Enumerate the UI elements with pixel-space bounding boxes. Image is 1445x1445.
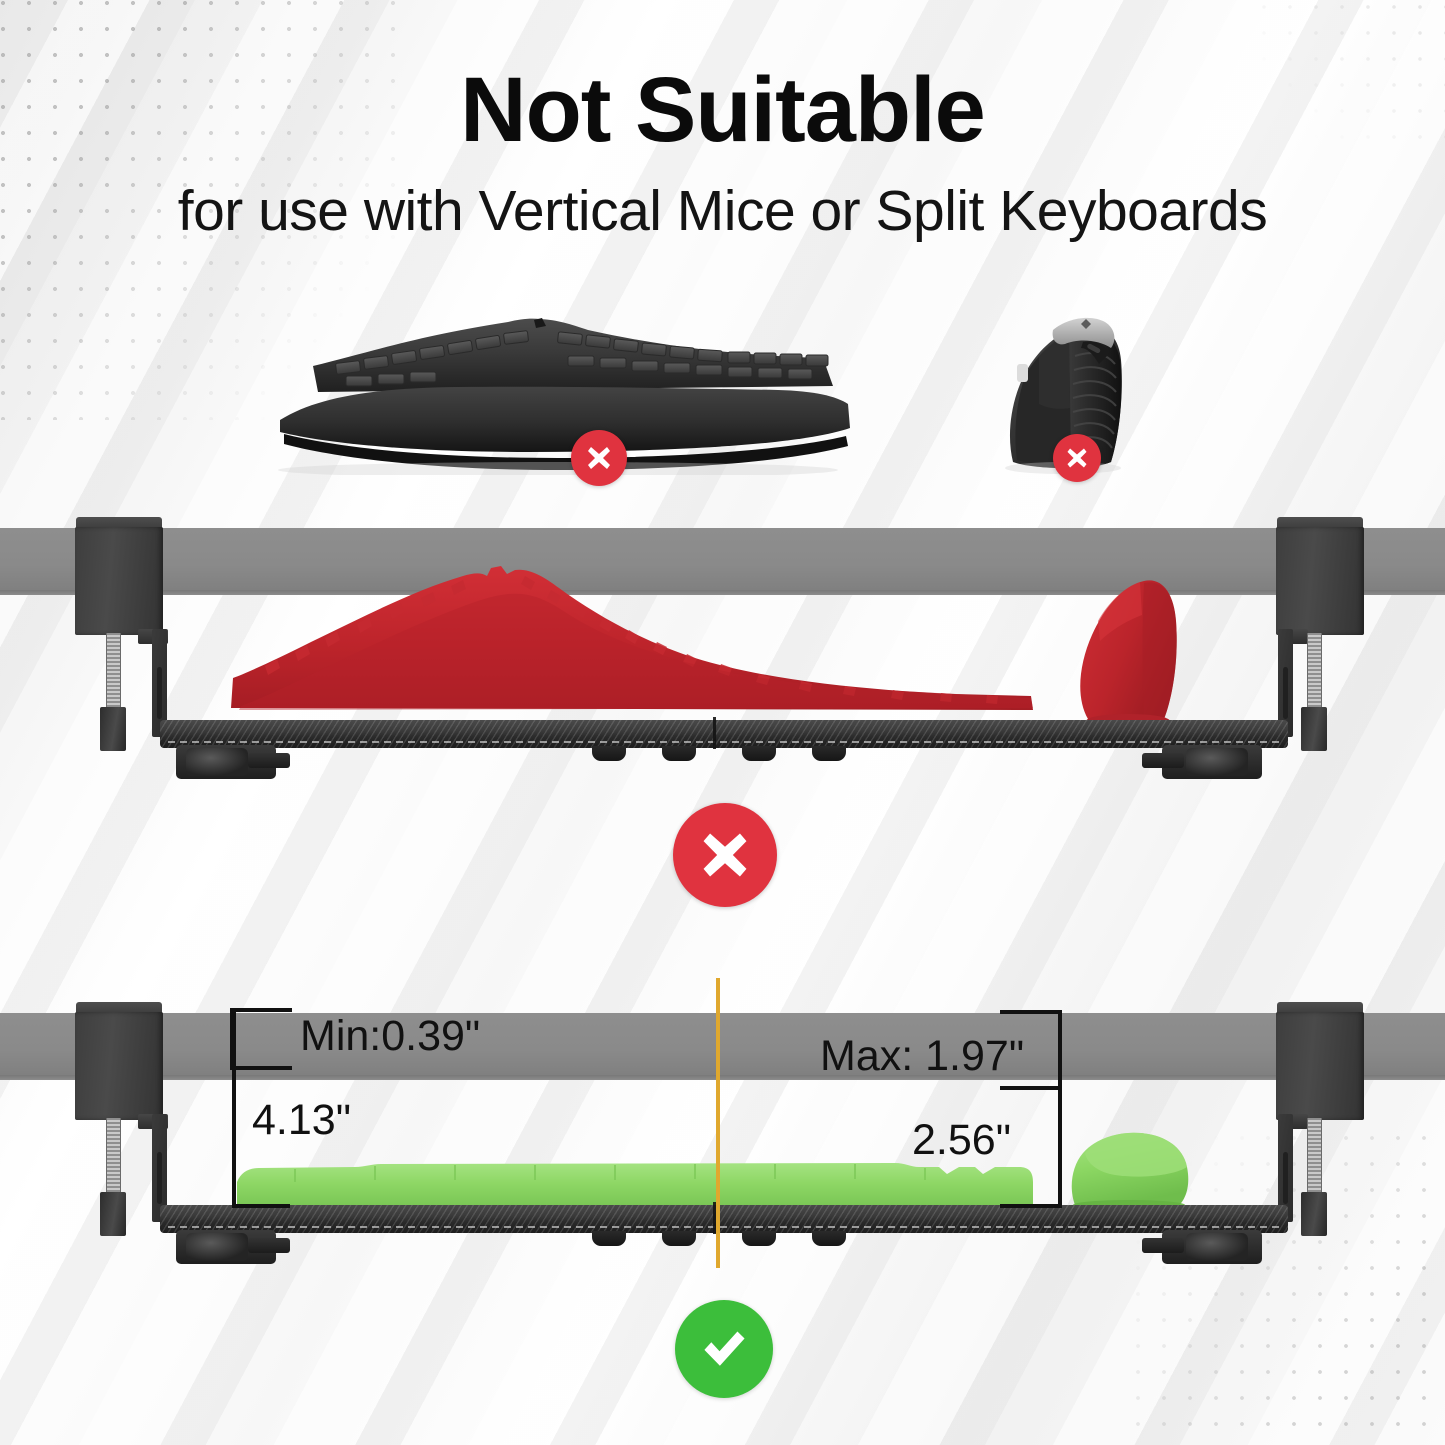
clamp-body: [75, 1012, 163, 1120]
tray-pivot-knob: [1186, 748, 1248, 776]
tray-pivot-knob: [186, 748, 248, 776]
tray-pivot-tab: [248, 1238, 290, 1253]
clamp-screw-pad: [100, 707, 126, 751]
page-title: Not Suitable: [0, 62, 1445, 159]
tray-foot: [592, 1231, 626, 1246]
dim-left-top-tick: [232, 1008, 290, 1012]
tray-center-seam: [713, 717, 716, 749]
dim-max-vertical: [1058, 1010, 1062, 1090]
dim-left-bottom-tick: [232, 1204, 290, 1208]
tray-pivot-tab: [248, 753, 290, 768]
page-subtitle: for use with Vertical Mice or Split Keyb…: [0, 178, 1445, 244]
dim-label-clearance-left: 4.13": [252, 1096, 351, 1145]
flat-keyboard-silhouette: [235, 1158, 1035, 1210]
mouse-reject-badge: [1053, 434, 1101, 482]
tray-pivot-tab: [1142, 1238, 1184, 1253]
clamp-screw-pad: [100, 1192, 126, 1236]
x-mark-icon: [1064, 445, 1090, 471]
infographic-canvas: Not Suitable for use with Vertical Mice …: [0, 0, 1445, 1445]
clamp-screw: [106, 633, 121, 711]
flat-mouse-silhouette: [1065, 1127, 1195, 1210]
keyboard-tray: [160, 1205, 1288, 1233]
tray-pivot-tab: [1142, 753, 1184, 768]
split-keyboard-silhouette: [225, 560, 1035, 725]
tray-foot: [742, 1231, 776, 1246]
tray-highlight-line: [168, 741, 1280, 743]
clamp-arm-slot: [1283, 1152, 1288, 1204]
tray-foot: [662, 746, 696, 761]
clamp-arm-slot: [157, 667, 162, 719]
tray-foot: [592, 746, 626, 761]
center-divider-line: [716, 978, 720, 1268]
dim-label-max: Max: 1.97": [820, 1032, 1024, 1081]
suitable-scene: [0, 990, 1445, 1290]
clamp-body: [1276, 527, 1364, 635]
dim-right-top-tick: [1000, 1086, 1062, 1090]
clamp-screw: [1307, 633, 1322, 711]
reject-verdict-badge: [673, 803, 777, 907]
not-suitable-scene: [0, 505, 1445, 805]
tray-foot: [662, 1231, 696, 1246]
keyboard-tray: [160, 720, 1288, 748]
dim-min-bottom-tick: [230, 1066, 292, 1070]
keyboard-reject-badge: [571, 430, 627, 486]
tray-pivot-knob: [1186, 1233, 1248, 1261]
clamp-screw-pad: [1301, 707, 1327, 751]
split-keyboard-photo: [258, 300, 858, 475]
tray-foot: [812, 746, 846, 761]
check-mark-icon: [696, 1321, 752, 1377]
vertical-mouse-silhouette: [1068, 575, 1188, 727]
tray-foot: [742, 746, 776, 761]
clamp-body: [75, 527, 163, 635]
dim-right-bottom-tick: [1000, 1204, 1062, 1208]
x-mark-icon: [584, 443, 614, 473]
tray-foot: [812, 1231, 846, 1246]
tray-pivot-knob: [186, 1233, 248, 1261]
dim-label-clearance-right: 2.56": [912, 1116, 1011, 1165]
clamp-screw: [1307, 1118, 1322, 1196]
tray-highlight-line: [168, 1226, 1280, 1228]
dim-label-min: Min:0.39": [300, 1012, 480, 1061]
clamp-screw-pad: [1301, 1192, 1327, 1236]
clamp-arm-slot: [157, 1152, 162, 1204]
desk-edge-line: [0, 1075, 1445, 1080]
accept-verdict-badge: [675, 1300, 773, 1398]
x-mark-icon: [697, 827, 753, 883]
clamp-arm-slot: [1283, 667, 1288, 719]
dim-max-top-tick: [1000, 1010, 1062, 1014]
clamp-screw: [106, 1118, 121, 1196]
dim-right-vertical: [1058, 1086, 1062, 1208]
desk-surface-bottom: [0, 1013, 1445, 1080]
dim-left-vertical: [232, 1008, 236, 1208]
clamp-body: [1276, 1012, 1364, 1120]
